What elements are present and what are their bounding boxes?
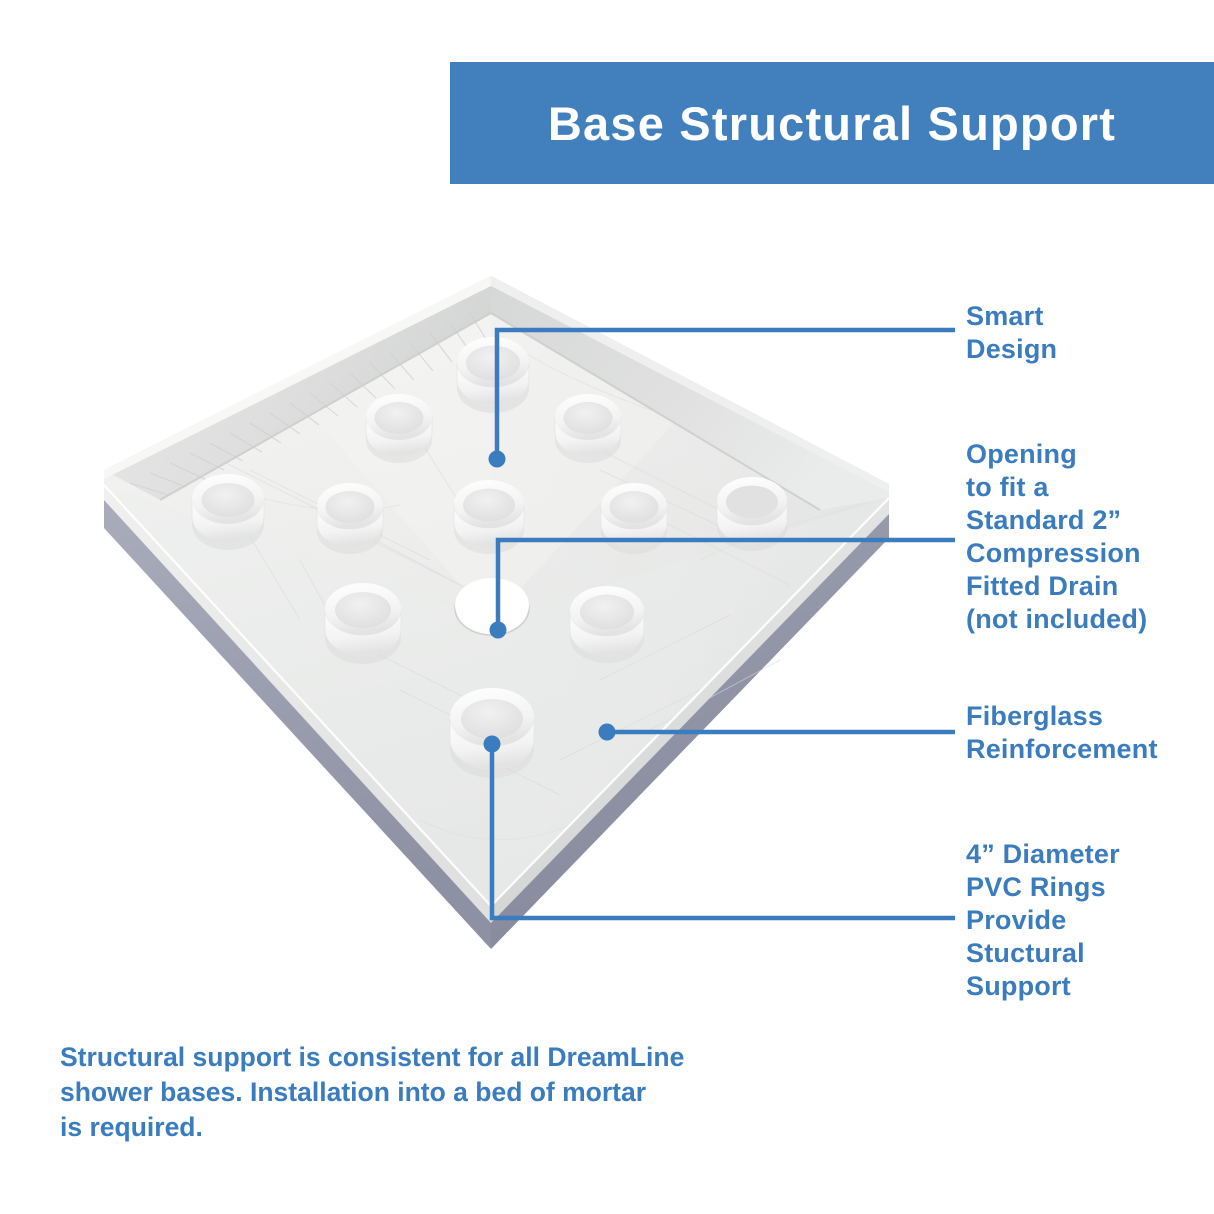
pvc-ring (570, 586, 644, 663)
pvc-ring (601, 483, 667, 554)
callout-line: Compression (966, 537, 1147, 570)
callout-line: Fiberglass (966, 700, 1158, 733)
caption-line: is required. (60, 1110, 860, 1145)
callout-opening-drain: Opening to fit a Standard 2” Compression… (966, 438, 1147, 636)
pvc-ring (317, 483, 383, 554)
callout-line: (not included) (966, 603, 1147, 636)
leader-dot-smart-design (489, 451, 506, 468)
callout-line: Standard 2” (966, 504, 1147, 537)
pvc-ring (555, 394, 621, 463)
pvc-ring (366, 394, 432, 463)
callout-line: Stuctural (966, 937, 1120, 970)
callout-fiberglass-reinforcement: Fiberglass Reinforcement (966, 700, 1158, 766)
page-title: Base Structural Support (548, 100, 1116, 147)
leader-dot-pvc-rings (484, 736, 501, 753)
footer-caption: Structural support is consistent for all… (60, 1040, 860, 1146)
pvc-ring (192, 474, 264, 550)
callout-line: Provide (966, 904, 1120, 937)
callout-line: Support (966, 970, 1120, 1003)
leader-dot-fiberglass (599, 724, 616, 741)
leader-dot-opening (490, 622, 507, 639)
callout-line: Reinforcement (966, 733, 1158, 766)
callout-line: Fitted Drain (966, 570, 1147, 603)
pvc-ring (325, 583, 401, 664)
callout-smart-design: Smart Design (966, 300, 1057, 366)
callout-pvc-rings: 4” Diameter PVC Rings Provide Stuctural … (966, 838, 1120, 1003)
callout-line: Design (966, 333, 1057, 366)
callout-line: Opening (966, 438, 1147, 471)
pvc-ring (454, 480, 524, 554)
callout-line: Smart (966, 300, 1057, 333)
caption-line: shower bases. Installation into a bed of… (60, 1075, 860, 1110)
callout-line: to fit a (966, 471, 1147, 504)
pvc-ring (457, 337, 529, 413)
diagram-canvas: Base Structural Support Smart Design Ope… (0, 0, 1214, 1214)
title-banner: Base Structural Support (450, 62, 1214, 184)
callout-line: PVC Rings (966, 871, 1120, 904)
caption-line: Structural support is consistent for all… (60, 1040, 860, 1075)
callout-line: 4” Diameter (966, 838, 1120, 871)
